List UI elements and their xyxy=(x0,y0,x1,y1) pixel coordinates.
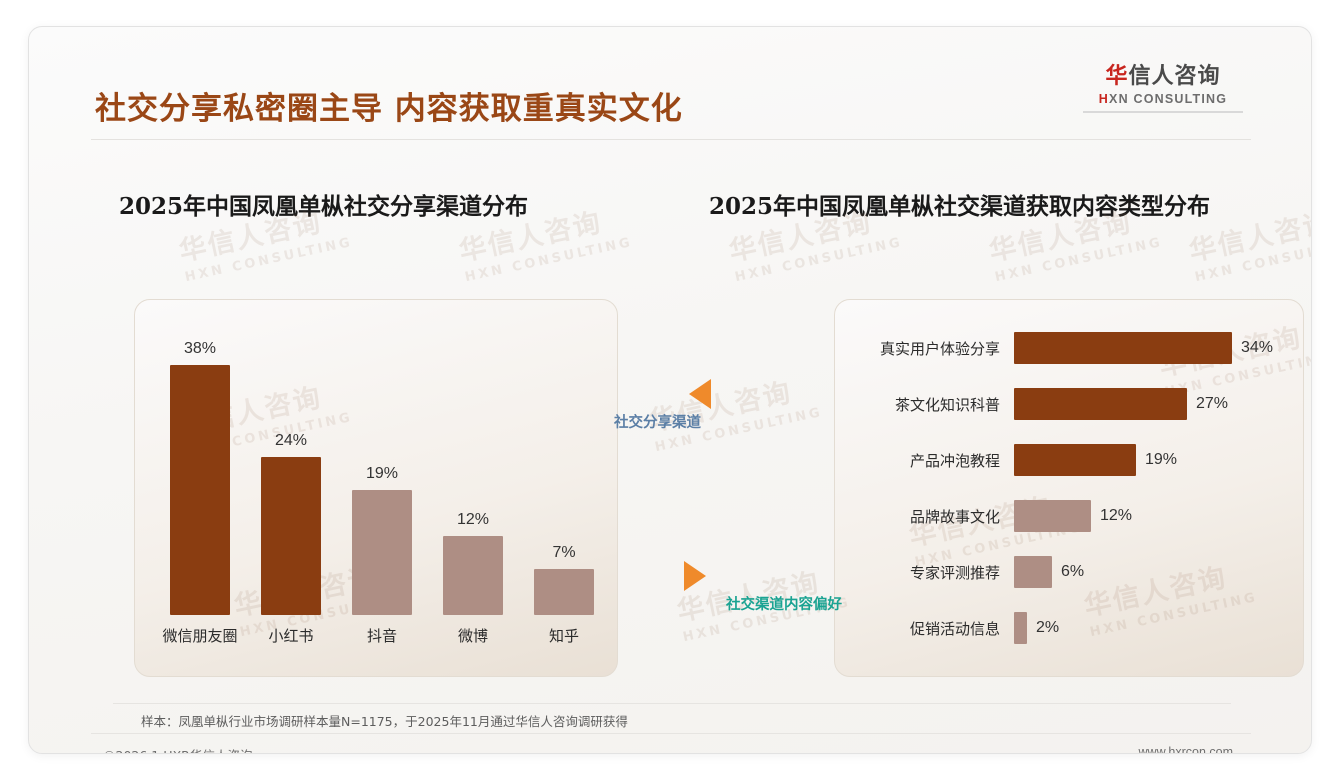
social-share-channel-bar-chart: 38%微信朋友圈24%小红书19%抖音12%微博7%知乎 xyxy=(134,299,618,677)
bar-category-label: 抖音 xyxy=(367,625,397,646)
brand-logo: 华信人咨询 HXN CONSULTING xyxy=(1083,65,1243,113)
bar-category-label: 小红书 xyxy=(268,625,313,646)
page-title: 社交分享私密圈主导 内容获取重真实文化 xyxy=(95,83,683,128)
horizontal-bar[interactable] xyxy=(1014,500,1091,532)
horizontal-bar-row: 专家评测推荐6% xyxy=(834,555,1304,589)
header-divider xyxy=(91,139,1251,140)
vertical-bar[interactable] xyxy=(352,490,412,615)
bar-value-label: 2% xyxy=(1036,619,1059,637)
vertical-bar-group: 24%小红书 xyxy=(261,432,321,615)
horizontal-bar-row: 茶文化知识科普27% xyxy=(834,387,1304,421)
bar-value-label: 19% xyxy=(352,465,412,483)
watermark-en-text: HXN CONSULTING xyxy=(184,235,354,285)
slide-frame: 社交分享私密圈主导 内容获取重真实文化 华信人咨询 HXN CONSULTING… xyxy=(28,26,1312,754)
logo-char-hua: 华 xyxy=(1105,64,1128,89)
logo-en-rest: XN CONSULTING xyxy=(1109,92,1227,106)
callout-label-content-preference: 社交渠道内容偏好 xyxy=(726,593,842,614)
logo-en-initial: H xyxy=(1099,92,1109,106)
watermark-en-text: HXN CONSULTING xyxy=(994,235,1164,285)
bar-value-label: 6% xyxy=(1061,563,1084,581)
logo-underline xyxy=(1083,111,1243,113)
bar-value-label: 24% xyxy=(261,432,321,450)
bar-value-label: 38% xyxy=(170,340,230,358)
bar-value-label: 27% xyxy=(1196,395,1228,413)
triangle-left-icon xyxy=(689,379,711,409)
horizontal-bar[interactable] xyxy=(1014,332,1232,364)
bar-category-label: 真实用户体验分享 xyxy=(834,338,1014,359)
bar-category-label: 促销活动信息 xyxy=(834,618,1014,639)
horizontal-bar[interactable] xyxy=(1014,444,1136,476)
watermark-en-text: HXN CONSULTING xyxy=(734,235,904,285)
bar-value-label: 12% xyxy=(1100,507,1132,525)
bar-category-label: 茶文化知识科普 xyxy=(834,394,1014,415)
left-chart-heading: 2025年中国凤凰单枞社交分享渠道分布 xyxy=(119,187,528,221)
bar-value-label: 34% xyxy=(1241,339,1273,357)
horizontal-bar[interactable] xyxy=(1014,388,1187,420)
watermark-en-text: HXN CONSULTING xyxy=(1194,235,1312,285)
footer-website: www.hxrcon.com xyxy=(1139,745,1233,754)
horizontal-bar-row: 品牌故事文化12% xyxy=(834,499,1304,533)
vertical-bar[interactable] xyxy=(261,457,321,615)
logo-english-text: HXN CONSULTING xyxy=(1083,92,1243,106)
bar-category-label: 知乎 xyxy=(549,625,579,646)
sample-footnote: 样本：凤凰单枞行业市场调研样本量N=1175，于2025年11月通过华信人咨询调… xyxy=(141,711,628,730)
horizontal-bar[interactable] xyxy=(1014,556,1052,588)
horizontal-bar-row: 产品冲泡教程19% xyxy=(834,443,1304,477)
vertical-bar-group: 38%微信朋友圈 xyxy=(170,340,230,615)
footer-copyright: ©2026.1 HXR华信人咨询 xyxy=(103,745,252,754)
callout-label-social-share-channel: 社交分享渠道 xyxy=(614,411,701,432)
bar-category-label: 产品冲泡教程 xyxy=(834,450,1014,471)
vertical-bar[interactable] xyxy=(170,365,230,615)
bar-value-label: 7% xyxy=(534,544,594,562)
bar-value-label: 12% xyxy=(443,511,503,529)
footnote-divider xyxy=(113,703,1231,704)
logo-chars-rest: 信人咨询 xyxy=(1129,64,1221,89)
logo-chinese-text: 华信人咨询 xyxy=(1083,65,1243,89)
slide-header: 社交分享私密圈主导 内容获取重真实文化 华信人咨询 HXN CONSULTING xyxy=(29,27,1311,127)
triangle-right-icon xyxy=(684,561,706,591)
footer-divider xyxy=(91,733,1251,734)
vertical-bar-group: 19%抖音 xyxy=(352,465,412,615)
right-chart-heading: 2025年中国凤凰单枞社交渠道获取内容类型分布 xyxy=(709,187,1210,221)
watermark-en-text: HXN CONSULTING xyxy=(464,235,634,285)
horizontal-bar-row: 真实用户体验分享34% xyxy=(834,331,1304,365)
vertical-bar-group: 12%微博 xyxy=(443,511,503,615)
bar-value-label: 19% xyxy=(1145,451,1177,469)
bar-category-label: 品牌故事文化 xyxy=(834,506,1014,527)
bar-category-label: 微信朋友圈 xyxy=(162,625,237,646)
vertical-bar[interactable] xyxy=(443,536,503,615)
horizontal-bar-row: 促销活动信息2% xyxy=(834,611,1304,645)
bar-category-label: 专家评测推荐 xyxy=(834,562,1014,583)
horizontal-bar[interactable] xyxy=(1014,612,1027,644)
bar-category-label: 微博 xyxy=(458,625,488,646)
vertical-bar[interactable] xyxy=(534,569,594,615)
watermark: 华信人咨询HXN CONSULTING xyxy=(645,365,824,455)
vertical-bar-group: 7%知乎 xyxy=(534,544,594,615)
content-type-bar-chart: 真实用户体验分享34%茶文化知识科普27%产品冲泡教程19%品牌故事文化12%专… xyxy=(834,299,1304,677)
